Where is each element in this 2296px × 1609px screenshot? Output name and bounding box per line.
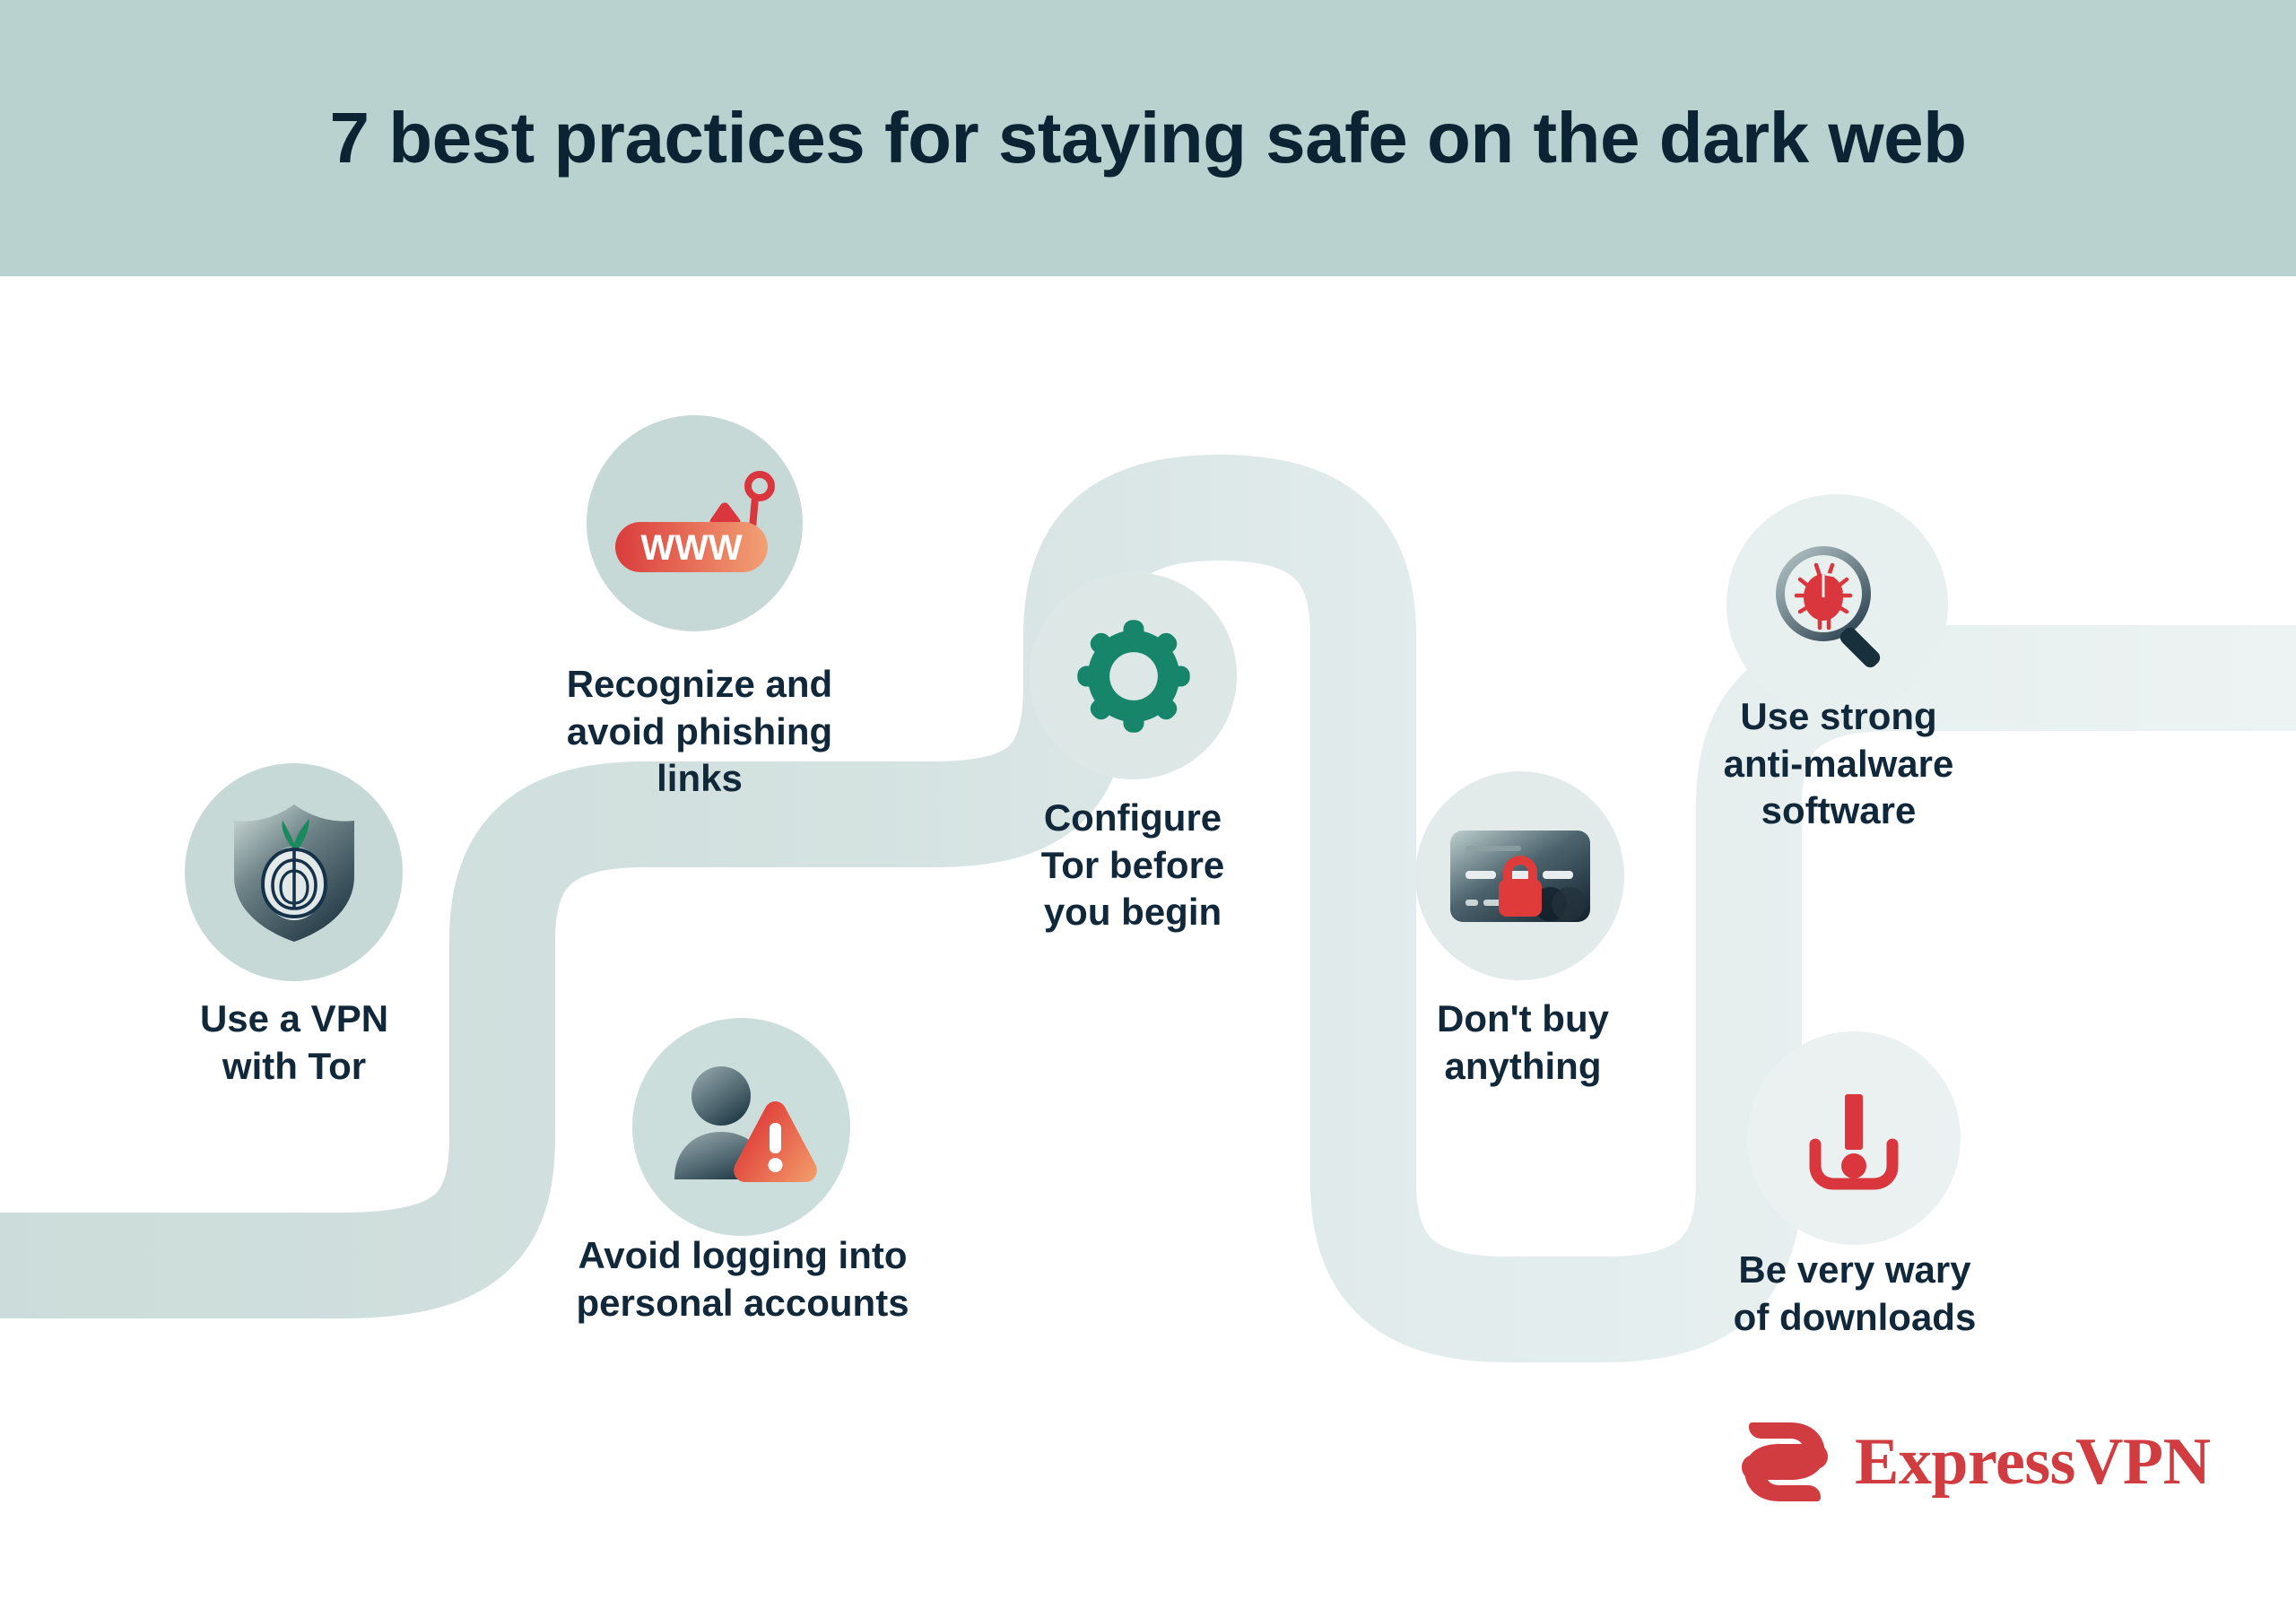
step-6-badge (1726, 494, 1948, 716)
gear-icon (1076, 619, 1191, 734)
header-band: 7 best practices for staying safe on the… (0, 0, 2296, 276)
step-4-badge (632, 1018, 850, 1236)
step-1-label: Use a VPN with Tor (106, 996, 483, 1090)
step-3-label: Configure Tor before you begin (971, 795, 1294, 936)
step-7-badge (1747, 1031, 1961, 1245)
tor-shield-icon (227, 801, 361, 944)
step-1-badge (185, 763, 403, 981)
user-warning-icon (665, 1060, 818, 1195)
step-5-label: Don't buy anything (1388, 996, 1657, 1090)
infographic-canvas: 7 best practices for staying safe on the… (0, 0, 2296, 1609)
step-5-badge (1415, 771, 1624, 980)
step-3-badge (1030, 572, 1237, 779)
step-4-label: Avoid logging into personal accounts (518, 1232, 967, 1326)
credit-card-lock-icon (1449, 830, 1591, 923)
phishing-url-text: WWW (640, 528, 743, 568)
expressvpn-logo: ExpressVPN (1738, 1415, 2211, 1509)
page-title: 7 best practices for staying safe on the… (330, 100, 1967, 176)
expressvpn-wordmark: ExpressVPN (1855, 1429, 2211, 1495)
step-6-label: Use strong anti-malware software (1686, 693, 1991, 835)
magnifier-bug-icon (1770, 542, 1906, 669)
step-7-label: Be very wary of downloads (1684, 1247, 2025, 1341)
expressvpn-mark-icon (1738, 1415, 1831, 1509)
step-2-badge: WWW (587, 415, 803, 631)
download-warning-icon (1796, 1080, 1912, 1196)
phishing-hook-www-icon: WWW (601, 452, 789, 596)
step-2-label: Recognize and avoid phishing links (511, 661, 888, 803)
